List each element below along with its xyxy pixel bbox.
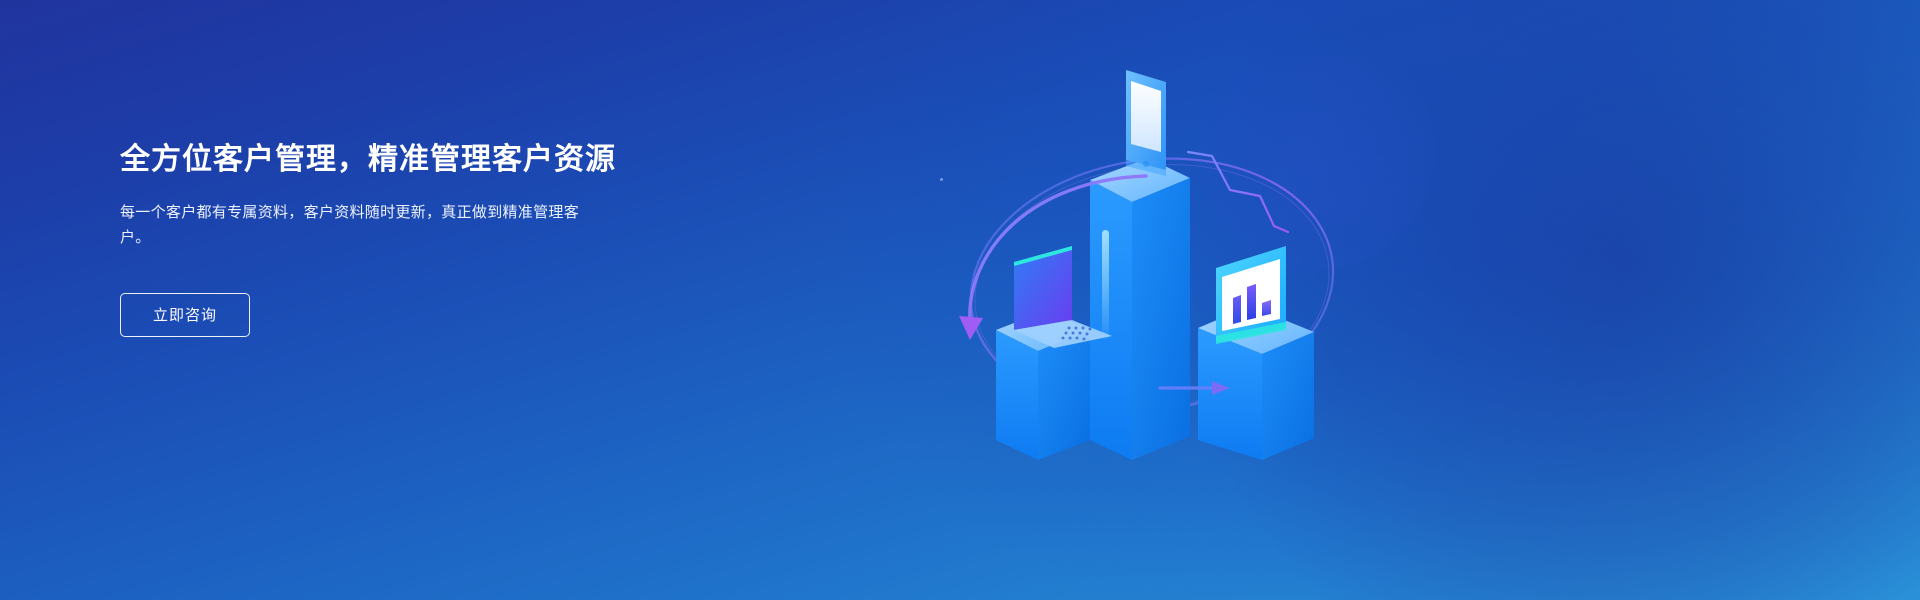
monitor-bar-chart-icon (1216, 246, 1286, 344)
tablet-device-icon (1126, 70, 1166, 176)
consult-now-button[interactable]: 立即咨询 (120, 293, 250, 337)
hero-illustration (930, 40, 1390, 460)
line-path-top-icon (1188, 152, 1288, 232)
pillar-center-tall (1090, 158, 1190, 460)
page-title: 全方位客户管理，精准管理客户资源 (120, 140, 740, 179)
chart-bar-1 (1233, 295, 1241, 324)
chart-bar-2 (1247, 284, 1256, 320)
hero-content: 全方位客户管理，精准管理客户资源 每一个客户都有专属资料，客户资料随时更新，真正… (120, 140, 740, 337)
hero-subtitle: 每一个客户都有专属资料，客户资料随时更新，真正做到精准管理客户。 (120, 201, 602, 251)
hero-banner: 全方位客户管理，精准管理客户资源 每一个客户都有专属资料，客户资料随时更新，真正… (0, 0, 1920, 600)
